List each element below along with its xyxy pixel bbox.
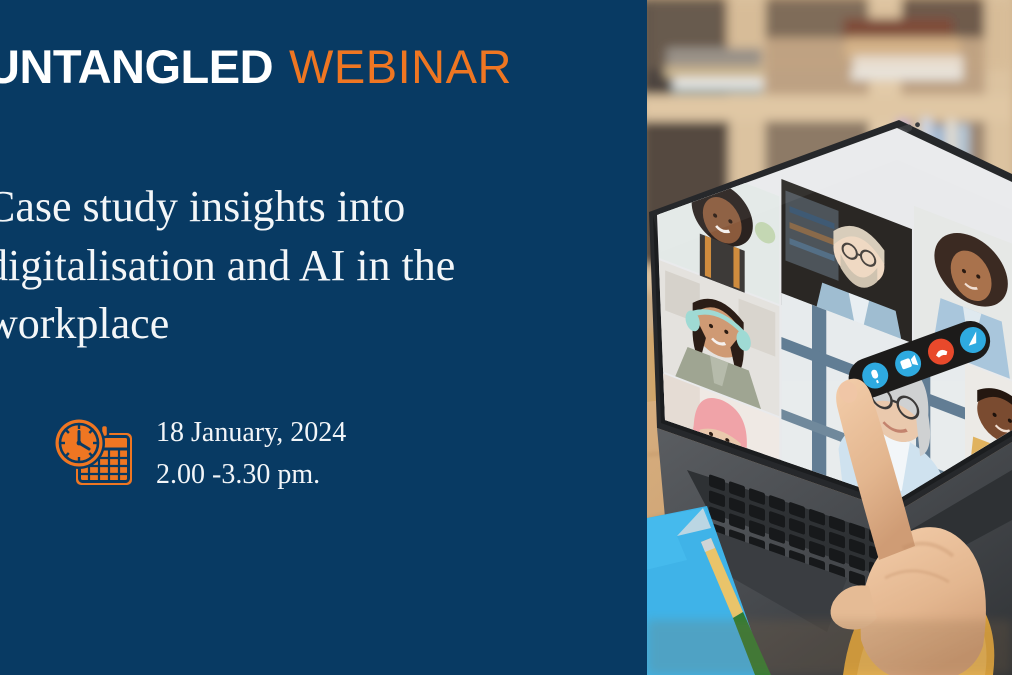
brand-word-webinar: WEBINAR [289, 40, 512, 93]
calendar-clock-icon [48, 413, 134, 495]
webinar-promo-banner: UNTANGLEDWEBINAR Case study insights int… [0, 0, 1012, 675]
headline-line-2: digitalisation and AI in the [0, 237, 546, 296]
event-datetime-block: 18 January, 2024 2.00 -3.30 pm. [48, 412, 346, 496]
headline-line-3: workplace [0, 295, 546, 354]
event-time: 2.00 -3.30 pm. [156, 454, 346, 496]
page-title: Case study insights into digitalisation … [0, 178, 546, 354]
event-datetime-text: 18 January, 2024 2.00 -3.30 pm. [156, 412, 346, 496]
event-date: 18 January, 2024 [156, 412, 346, 454]
left-text-panel: UNTANGLEDWEBINAR Case study insights int… [0, 0, 647, 675]
brand-word-untangled: UNTANGLED [0, 40, 273, 93]
brand-title: UNTANGLEDWEBINAR [0, 43, 512, 90]
hero-photo [647, 0, 1012, 675]
headline-line-1: Case study insights into [0, 178, 546, 237]
